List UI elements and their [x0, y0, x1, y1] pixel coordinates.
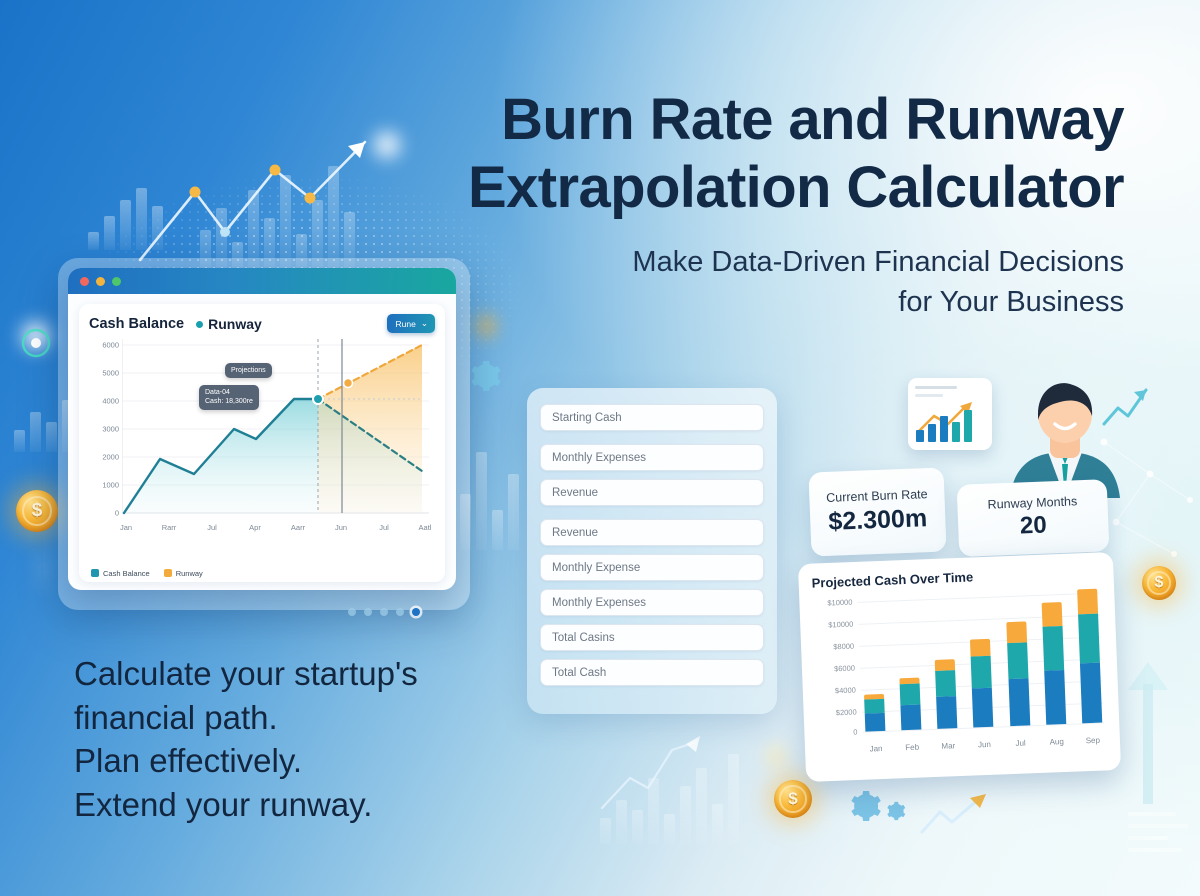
- x-tick-label: Mar: [938, 741, 958, 751]
- starting-cash-input[interactable]: Starting Cash: [540, 404, 764, 431]
- browser-window: Cash Balance Runway Rune ⌄ 6000 5000 400…: [68, 268, 456, 590]
- coin-dollar-icon: $: [774, 780, 812, 818]
- bar-jul: [1006, 621, 1030, 726]
- x-tick-label: Jul: [1010, 738, 1030, 748]
- carousel-dot[interactable]: [396, 608, 404, 616]
- headline-line-1: Burn Rate and Runway: [501, 87, 1124, 152]
- stat-label: Runway Months: [987, 494, 1077, 511]
- stat-label: Current Burn Rate: [826, 487, 928, 505]
- revenue-input-2[interactable]: Revenue: [540, 519, 764, 546]
- y-tick-label: $10000: [813, 620, 853, 631]
- revenue-input[interactable]: Revenue: [540, 479, 764, 506]
- subtitle-line-1: Make Data-Driven Financial Decisions: [632, 246, 1124, 278]
- runway-dropdown[interactable]: Rune ⌄: [387, 314, 435, 333]
- line-chart-svg: [122, 339, 429, 519]
- legend-item-runway: Runway: [164, 569, 203, 578]
- legend-item-cash-balance: Cash Balance: [91, 569, 150, 578]
- bar-chart-title: Projected Cash Over Time: [811, 565, 1100, 591]
- tagline-text: Calculate your startup's financial path.…: [74, 652, 418, 826]
- y-tick-label: 1000: [89, 481, 119, 490]
- gear-icon: [846, 788, 882, 824]
- chart-title: Cash Balance: [89, 316, 184, 332]
- total-casins-input[interactable]: Total Casins: [540, 624, 764, 651]
- y-tick-label: 2000: [89, 453, 119, 462]
- y-tick-label: 6000: [89, 341, 119, 350]
- list-lines-icon: [1128, 806, 1192, 862]
- monthly-expense-input[interactable]: Monthly Expense: [540, 554, 764, 581]
- gear-icon: [884, 800, 906, 822]
- window-titlebar: [68, 268, 456, 294]
- location-pin-icon: [18, 325, 54, 361]
- glow-dot: [1138, 616, 1144, 622]
- businessman-avatar: [1000, 372, 1130, 498]
- carousel-dots[interactable]: [348, 608, 420, 616]
- mini-bar-chart-card: [908, 378, 992, 450]
- carousel-dot[interactable]: [348, 608, 356, 616]
- stat-value: $2.300m: [828, 504, 928, 537]
- chart-legend: Cash Balance Runway: [91, 569, 203, 578]
- y-tick-label: $8000: [814, 642, 854, 653]
- trend-arrow-icon: [918, 792, 996, 840]
- y-tick-label: $10000: [812, 598, 852, 609]
- maximize-icon[interactable]: [112, 277, 121, 286]
- glow-dot: [1152, 624, 1157, 629]
- glow-dot: [40, 578, 46, 584]
- chart-header: Cash Balance Runway Rune ⌄: [89, 314, 435, 333]
- datapoint-tooltip: Data-04 Cash: 18,300re: [199, 385, 259, 410]
- carousel-dot-active[interactable]: [412, 608, 420, 616]
- carousel-dot[interactable]: [380, 608, 388, 616]
- chart-series-label: Runway: [196, 316, 262, 332]
- chevron-down-icon: ⌄: [421, 318, 428, 329]
- y-tick-label: 3000: [89, 425, 119, 434]
- bar-aug: [1041, 602, 1066, 725]
- bar-jan: [864, 694, 885, 732]
- x-tick-label: Aarr: [291, 523, 305, 532]
- carousel-dot[interactable]: [364, 608, 372, 616]
- runway-months-card: Runway Months 20: [957, 479, 1110, 557]
- trend-arrow-icon: [1118, 656, 1178, 806]
- glow-dot: [1138, 632, 1144, 638]
- y-tick-label: $2000: [817, 707, 857, 718]
- page-title: Burn Rate and Runway Extrapolation Calcu…: [468, 86, 1124, 322]
- y-tick-label: 5000: [89, 369, 119, 378]
- bar-jun: [970, 639, 993, 728]
- coin-dollar-icon: $: [1142, 566, 1176, 600]
- mini-bars: [916, 408, 984, 442]
- x-tick-label: Jun: [974, 740, 994, 750]
- headline-line-2: Extrapolation Calculator: [468, 155, 1124, 220]
- glow-dot: [40, 560, 47, 567]
- coin-dollar-icon: $: [16, 490, 58, 532]
- monthly-expenses-input[interactable]: Monthly Expenses: [540, 444, 764, 471]
- x-tick-label: Jun: [335, 523, 347, 532]
- tooltip-line-2: Cash: 18,300re: [205, 397, 253, 406]
- y-tick-label: 4000: [89, 397, 119, 406]
- y-tick-label: $6000: [815, 664, 855, 675]
- x-tick-label: Jul: [379, 523, 389, 532]
- minimize-icon[interactable]: [96, 277, 105, 286]
- x-tick-label: Jan: [120, 523, 132, 532]
- bar-sep: [1077, 589, 1102, 724]
- x-tick-label: Aug: [1047, 737, 1067, 747]
- bar-feb: [900, 678, 922, 731]
- close-icon[interactable]: [80, 277, 89, 286]
- current-burn-rate-card: Current Burn Rate $2.300m: [808, 467, 946, 556]
- series-dot-icon: [196, 321, 203, 328]
- bar-chart-plot: $10000 $10000 $8000 $6000 $4000 $2000 0 …: [812, 587, 1107, 758]
- x-tick-label: Feb: [902, 742, 922, 752]
- projected-cash-chart-card: Projected Cash Over Time $10000 $10000 $…: [798, 552, 1121, 782]
- x-tick-label: Aatl: [419, 523, 432, 532]
- bar-mar: [935, 659, 958, 729]
- tooltip-line-1: Data-04: [205, 388, 253, 397]
- y-tick-label: 0: [89, 509, 119, 518]
- dropdown-label: Rune: [396, 319, 416, 329]
- line-chart-card: Cash Balance Runway Rune ⌄ 6000 5000 400…: [79, 304, 445, 582]
- y-tick-label: $4000: [816, 686, 856, 697]
- x-tick-label: Jan: [866, 744, 886, 754]
- subtitle-line-2: for Your Business: [898, 286, 1124, 318]
- x-tick-label: Rarr: [162, 523, 177, 532]
- trend-arrow-icon: [596, 726, 716, 816]
- window-body: Cash Balance Runway Rune ⌄ 6000 5000 400…: [68, 294, 456, 590]
- bar-group: [860, 591, 1102, 732]
- x-tick-label: Sep: [1083, 736, 1103, 746]
- line-chart-plot: 6000 5000 4000 3000 2000 1000 0: [89, 339, 435, 519]
- x-tick-label: Jul: [207, 523, 217, 532]
- monthly-expenses-input-2[interactable]: Monthly Expenses: [540, 589, 764, 616]
- y-tick-label: 0: [817, 727, 857, 738]
- stat-value: 20: [1019, 511, 1047, 540]
- glow-dot: [374, 132, 400, 158]
- calculator-form-panel: Starting Cash Monthly Expenses Revenue R…: [527, 388, 777, 714]
- gear-icon: [466, 358, 502, 394]
- spark-icon: [768, 748, 784, 764]
- x-tick-label: Apr: [249, 523, 261, 532]
- bar-x-labels: Jan Feb Mar Jun Jul Aug Sep: [866, 736, 1103, 754]
- total-cash-input[interactable]: Total Cash: [540, 659, 764, 686]
- projections-tooltip: Projections: [225, 363, 272, 378]
